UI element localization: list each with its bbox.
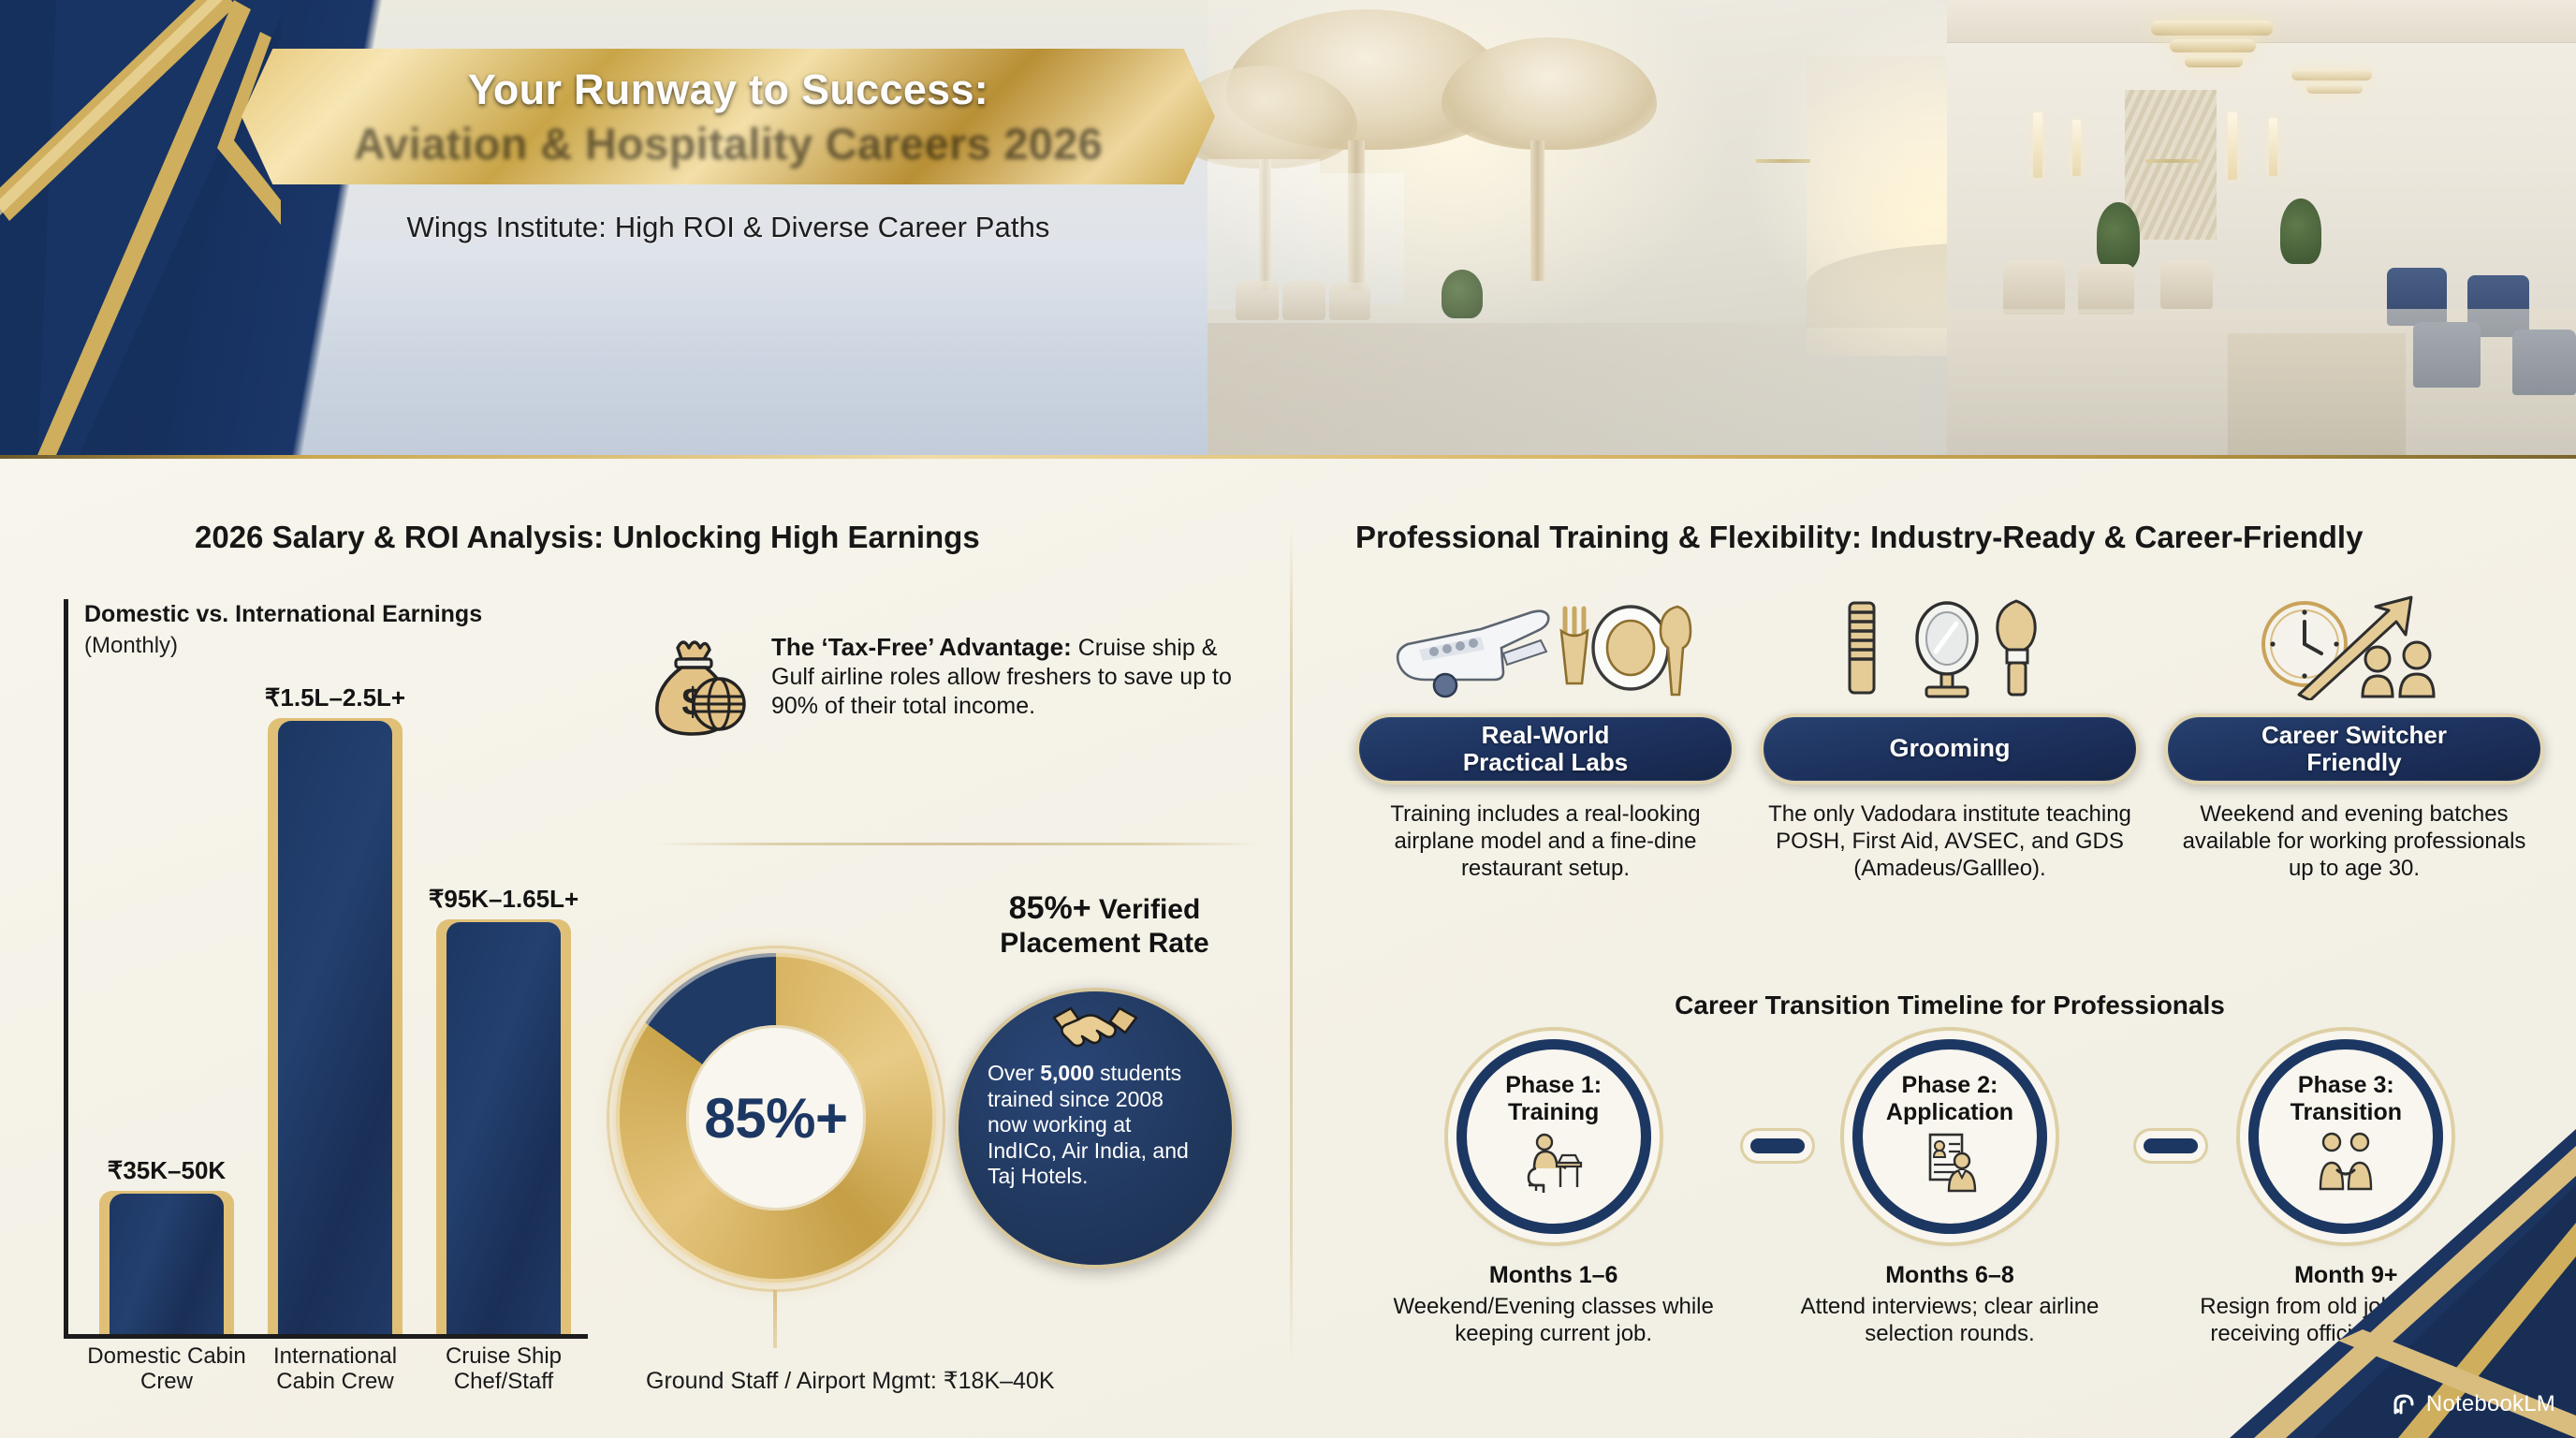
terminal-seat bbox=[1282, 281, 1325, 320]
chart-x-axis bbox=[64, 1334, 588, 1339]
timeline-when: Month 9+ bbox=[2294, 1262, 2397, 1289]
chandelier-icon bbox=[2185, 56, 2243, 67]
feature-icon-wrap bbox=[2247, 590, 2462, 700]
chandelier-icon bbox=[2170, 39, 2256, 52]
feature-description: The only Vadodara institute teaching POS… bbox=[1760, 801, 2140, 882]
column-stem bbox=[1530, 140, 1544, 281]
placement-rate-verified: Verified bbox=[1091, 894, 1201, 925]
right-panel-title: Professional Training & Flexibility: Ind… bbox=[1355, 520, 2363, 555]
header-banner: Your Runway to Success: Aviation & Hospi… bbox=[0, 0, 2576, 459]
timeline-when: Months 6–8 bbox=[1885, 1262, 2014, 1289]
tax-free-advantage-card: $ The ‘Tax-Free’ Advantage: Cruise ship … bbox=[646, 629, 1264, 770]
bar-slot: ₹35K–50K bbox=[82, 1156, 251, 1334]
timeline-title: Career Transition Timeline for Professio… bbox=[1355, 990, 2544, 1020]
placement-text-count: 5,000 bbox=[1040, 1061, 1094, 1085]
table-row[interactable] bbox=[110, 1194, 224, 1334]
timeline-phase-label: Phase 1: Training bbox=[1505, 1072, 1602, 1125]
timeline-row: Phase 1: Training Months 1–6 Weekend/Eve… bbox=[1355, 1039, 2544, 1414]
plant-icon bbox=[2280, 198, 2321, 264]
wall-lamp-icon bbox=[2072, 120, 2081, 176]
timeline-description: Weekend/Evening classes while keeping cu… bbox=[1355, 1294, 1751, 1348]
timeline-when: Months 1–6 bbox=[1489, 1262, 1618, 1289]
plant-icon bbox=[1442, 270, 1483, 318]
terminal-seat bbox=[1329, 283, 1370, 320]
placement-donut-chart: 85%+ bbox=[607, 946, 944, 1292]
money-bag-globe-icon: $ bbox=[646, 633, 747, 743]
timeline-item-phase-2: Phase 2: Application Months 6–8 Attend i… bbox=[1751, 1039, 2147, 1414]
header-photo bbox=[1207, 0, 2576, 459]
timeline-circle[interactable]: Phase 3: Transition bbox=[2248, 1039, 2443, 1234]
timeline-item-phase-3: Phase 3: Transition Month 9+ Resign from… bbox=[2148, 1039, 2544, 1414]
bar-value-label: ₹95K–1.65L+ bbox=[429, 885, 578, 914]
placement-stats-circle: Over 5,000 students trained since 2008 n… bbox=[955, 988, 1236, 1269]
clock-growth-people-icon bbox=[2247, 595, 2462, 700]
chandelier-icon bbox=[2151, 21, 2273, 36]
chart-y-axis bbox=[64, 599, 68, 1334]
lobby-chair bbox=[2078, 264, 2134, 315]
timeline-circle[interactable]: Phase 1: Training bbox=[1456, 1039, 1651, 1234]
infographic-page: Your Runway to Success: Aviation & Hospi… bbox=[0, 0, 2576, 1438]
table-row[interactable] bbox=[446, 922, 561, 1334]
feature-card-practical-labs: Real-World Practical Labs Training inclu… bbox=[1355, 590, 1735, 964]
lobby-chair bbox=[2160, 260, 2213, 309]
corner-decoration-top-left bbox=[0, 0, 281, 459]
lobby-chair bbox=[2003, 260, 2065, 315]
feature-pill-label[interactable]: Grooming bbox=[1760, 713, 2140, 785]
pill-connector bbox=[1756, 159, 1810, 163]
notebooklm-label: NotebookLM bbox=[2426, 1391, 2555, 1417]
resume-person-icon bbox=[1917, 1131, 1983, 1193]
lobby-wall-panel bbox=[2125, 90, 2217, 240]
panel-divider bbox=[1290, 524, 1293, 1367]
title-line-2: Aviation & Hospitality Careers 2026 bbox=[354, 116, 1103, 168]
header-subtitle: Wings Institute: High ROI & Diverse Care… bbox=[241, 211, 1215, 244]
header-bottom-rule bbox=[0, 455, 2576, 459]
feature-card-career-switcher: Career Switcher Friendly Weekend and eve… bbox=[2164, 590, 2544, 964]
handshake-icon bbox=[1050, 997, 1140, 1055]
table-row[interactable] bbox=[278, 721, 392, 1334]
timeline-description: Resign from old job only after receiving… bbox=[2148, 1294, 2544, 1348]
donut-center-value: 85%+ bbox=[607, 946, 945, 1290]
bar-value-label: ₹1.5L–2.5L+ bbox=[265, 683, 405, 712]
timeline-circle[interactable]: Phase 2: Application bbox=[1852, 1039, 2047, 1234]
timeline-item-phase-1: Phase 1: Training Months 1–6 Weekend/Eve… bbox=[1355, 1039, 1751, 1414]
placement-stats-text: Over 5,000 students trained since 2008 n… bbox=[988, 1061, 1203, 1190]
feature-description: Weekend and evening batches available fo… bbox=[2164, 801, 2544, 882]
chart-category-labels: Domestic Cabin Crew International Cabin … bbox=[82, 1343, 588, 1395]
bar-slot: ₹1.5L–2.5L+ bbox=[251, 683, 419, 1334]
section-divider bbox=[655, 843, 1264, 845]
feature-icon-wrap bbox=[1391, 590, 1700, 700]
category-label: International Cabin Crew bbox=[251, 1343, 419, 1395]
salary-bar-chart: Domestic vs. International Earnings (Mon… bbox=[64, 599, 588, 1339]
bar-slot: ₹95K–1.65L+ bbox=[419, 885, 588, 1334]
terminal-seat bbox=[1236, 281, 1279, 320]
feature-card-grooming: Grooming The only Vadodara institute tea… bbox=[1760, 590, 2140, 964]
tax-free-text: The ‘Tax-Free’ Advantage: Cruise ship & … bbox=[771, 629, 1264, 770]
placement-rate-title: 85%+ Verified Placement Rate bbox=[955, 889, 1254, 961]
feature-row: Real-World Practical Labs Training inclu… bbox=[1355, 590, 2544, 964]
timeline-phase-label: Phase 2: Application bbox=[1886, 1072, 2013, 1125]
category-label: Domestic Cabin Crew bbox=[82, 1343, 251, 1395]
placement-rate-value: 85%+ bbox=[1009, 890, 1091, 926]
floor-runner bbox=[2228, 333, 2406, 459]
feature-icon-wrap bbox=[1833, 590, 2067, 700]
wall-lamp-icon bbox=[2033, 112, 2042, 178]
feature-pill-label[interactable]: Career Switcher Friendly bbox=[2164, 713, 2544, 785]
ground-staff-note: Ground Staff / Airport Mgmt: ₹18K–40K bbox=[646, 1367, 1055, 1395]
chart-bars: ₹35K–50K ₹1.5L–2.5L+ ₹95K–1.65L+ bbox=[82, 604, 588, 1334]
airplane-plate-cutlery-icon bbox=[1391, 595, 1700, 700]
notebooklm-watermark: NotebookLM bbox=[2392, 1391, 2555, 1417]
timeline-phase-label: Phase 3: Transition bbox=[2291, 1072, 2402, 1125]
comb-mirror-brush-icon bbox=[1833, 595, 2067, 700]
tax-free-heading: The ‘Tax-Free’ Advantage: bbox=[771, 633, 1072, 661]
chandelier-icon bbox=[2306, 84, 2363, 94]
chandelier-icon bbox=[2291, 69, 2372, 81]
title-plaque-inner: Your Runway to Success: Aviation & Hospi… bbox=[256, 59, 1200, 174]
hotel-lobby bbox=[1947, 0, 2576, 459]
wall-lamp-icon bbox=[2269, 118, 2277, 176]
pill-connector bbox=[2145, 159, 2200, 163]
timeline-description: Attend interviews; clear airline selecti… bbox=[1751, 1294, 2147, 1348]
donut-pointer bbox=[773, 1290, 777, 1348]
bar-value-label: ₹35K–50K bbox=[108, 1156, 226, 1185]
category-label: Cruise Ship Chef/Staff bbox=[419, 1343, 588, 1395]
placement-text-pre: Over bbox=[988, 1061, 1040, 1085]
feature-description: Training includes a real-looking airplan… bbox=[1355, 801, 1735, 882]
feature-pill-label[interactable]: Real-World Practical Labs bbox=[1355, 713, 1735, 785]
title-line-1: Your Runway to Success: bbox=[468, 66, 988, 114]
person-at-desk-icon bbox=[1521, 1131, 1587, 1193]
notebooklm-icon bbox=[2392, 1391, 2418, 1417]
placement-rate-line2: Placement Rate bbox=[1000, 928, 1208, 959]
left-panel-title: 2026 Salary & ROI Analysis: Unlocking Hi… bbox=[195, 520, 980, 555]
title-plaque: Your Runway to Success: Aviation & Hospi… bbox=[241, 49, 1215, 184]
plant-icon bbox=[2097, 202, 2140, 270]
wall-lamp-icon bbox=[2228, 112, 2237, 180]
two-people-handshake-icon bbox=[2313, 1131, 2378, 1193]
